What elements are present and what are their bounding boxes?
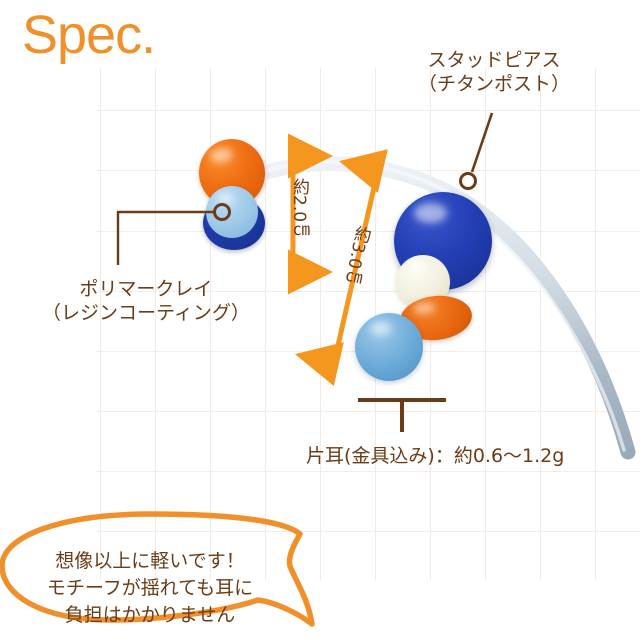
polymer-clay-leader-icon xyxy=(118,205,230,266)
spec-infographic: Spec. xyxy=(0,0,640,640)
speech-bubble-line3: 負担はかかりません xyxy=(18,602,282,629)
dimension-label-3cm: 約3.0㎝ xyxy=(338,223,375,288)
label-stud-line2: （チタンポスト） xyxy=(418,72,570,96)
dimension-label-2cm: 約2.0㎝ xyxy=(287,178,312,239)
speech-bubble-line2: モチーフが揺れても耳に xyxy=(18,575,282,602)
label-clay-line2: （レジンコーティング） xyxy=(42,301,250,325)
label-weight: 片耳(金具込み)：約0.6～1.2g xyxy=(306,444,564,468)
disc-navy-left xyxy=(203,196,265,250)
label-clay-line1: ポリマークレイ xyxy=(42,277,250,301)
disc-navy-right xyxy=(394,192,492,290)
speech-bubble-text: 想像以上に軽いです！ モチーフが揺れても耳に 負担はかかりません xyxy=(18,548,282,629)
weight-t-marker-icon xyxy=(358,400,446,432)
speech-bubble-line1: 想像以上に軽いです！ xyxy=(18,548,282,575)
disc-orange-right xyxy=(398,292,474,343)
disc-orange-left xyxy=(195,135,270,212)
page-title: Spec. xyxy=(22,4,155,66)
label-stud-line1: スタッドピアス xyxy=(418,48,570,72)
label-polymer-clay: ポリマークレイ （レジンコーティング） xyxy=(42,277,250,326)
disc-cream xyxy=(396,255,450,309)
disc-lightblue-right xyxy=(355,313,423,381)
disc-lightblue-left xyxy=(206,186,258,238)
stud-leader-icon xyxy=(461,113,493,189)
label-stud-pierce: スタッドピアス （チタンポスト） xyxy=(418,48,570,97)
